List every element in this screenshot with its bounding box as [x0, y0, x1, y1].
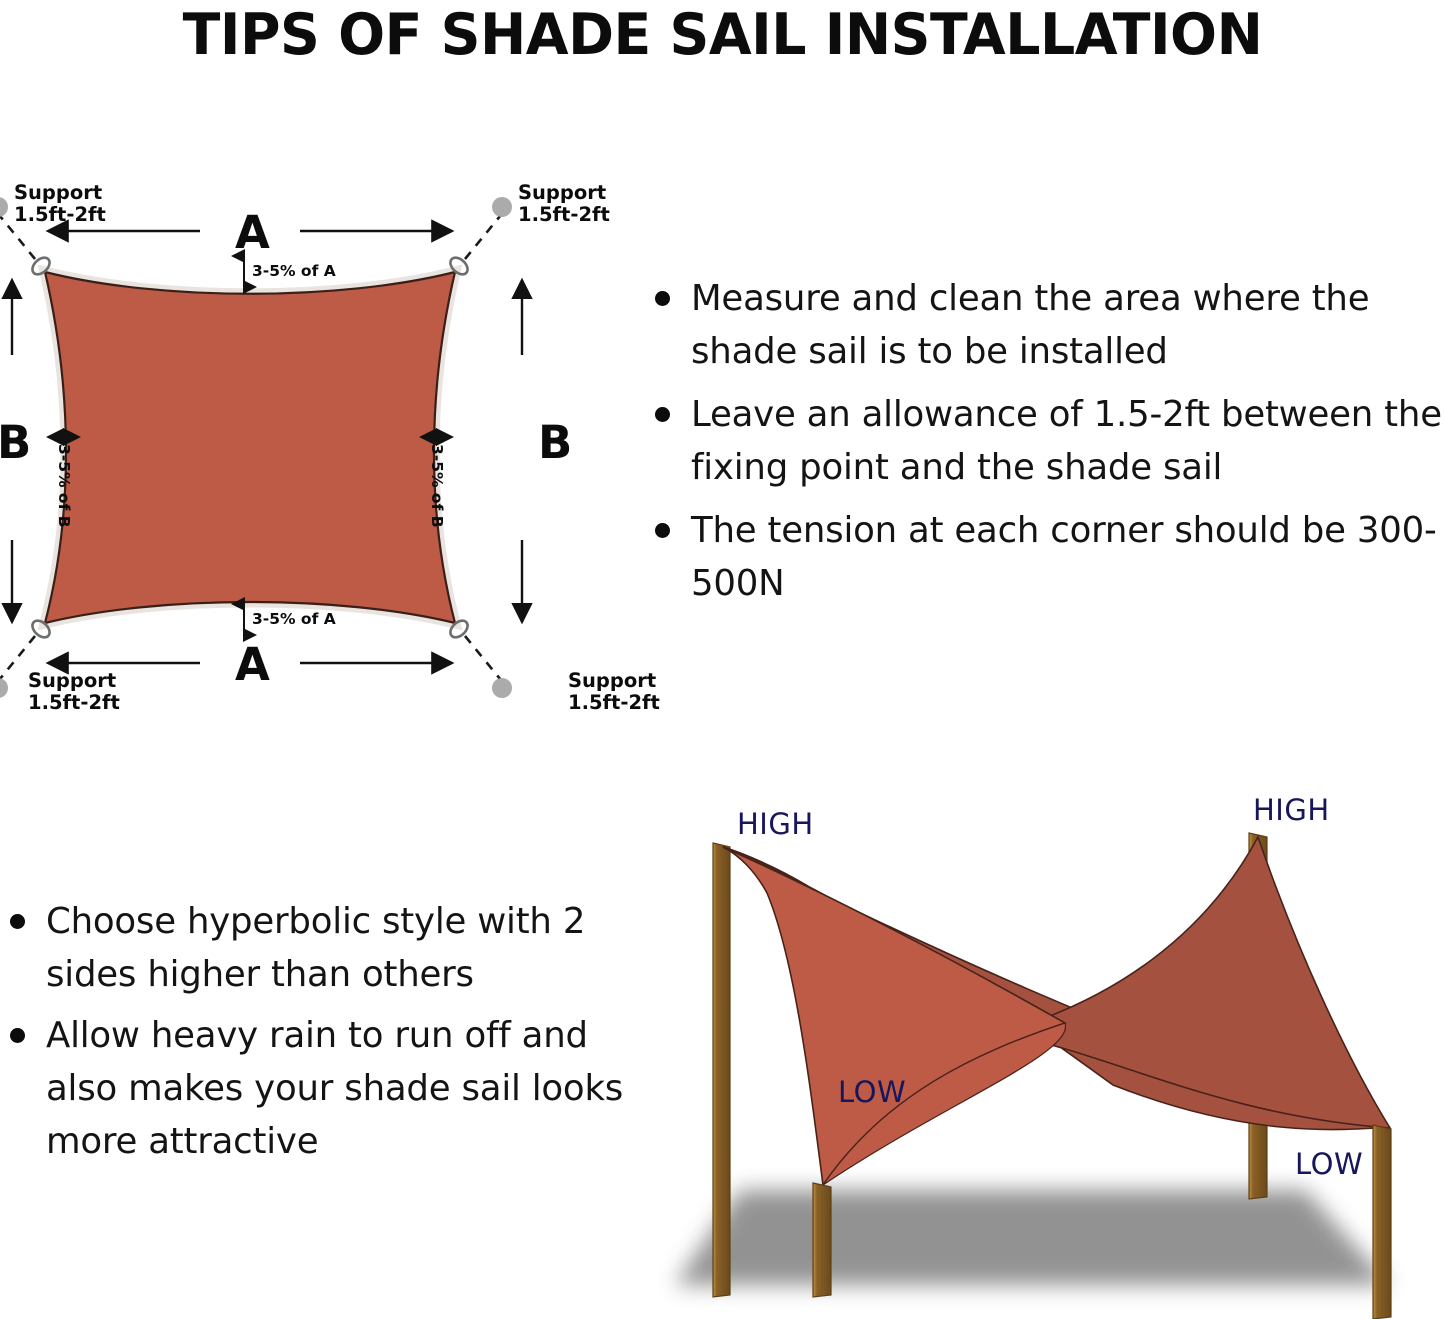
sail-illustration-svg — [645, 785, 1445, 1319]
page-title: TIPS OF SHADE SAIL INSTALLATION — [22, 2, 1424, 68]
label-low-right: LOW — [1295, 1147, 1363, 1181]
dimension-letter-right-B: B — [538, 418, 571, 468]
dimension-letter-top-A: A — [235, 208, 269, 258]
sag-label-bottom: 3-5% of A — [252, 611, 336, 628]
label-high-right: HIGH — [1253, 793, 1330, 827]
support-label-top-right: Support 1.5ft-2ft — [518, 182, 610, 226]
label-low-left: LOW — [838, 1075, 906, 1109]
hyperbolic-style-tips-list: Choose hyperbolic style with 2 sides hig… — [0, 895, 625, 1176]
installation-tips-list: Measure and clean the area where the sha… — [645, 272, 1445, 620]
list-item: Allow heavy rain to run off and also mak… — [0, 1009, 625, 1168]
dimension-letter-left-B: B — [0, 418, 30, 468]
list-item: Leave an allowance of 1.5-2ft between th… — [645, 388, 1445, 494]
infographic-page: TIPS OF SHADE SAIL INSTALLATION — [0, 0, 1445, 1319]
shade-sail-shape — [45, 272, 455, 623]
list-item: Measure and clean the area where the sha… — [645, 272, 1445, 378]
support-label-top-left: Support 1.5ft-2ft — [14, 182, 106, 226]
sail-surface-right-panel — [1000, 837, 1390, 1128]
hyperbolic-sail-illustration: HIGH HIGH LOW LOW — [645, 785, 1445, 1319]
ground-shadow — [675, 1190, 1390, 1285]
dimension-letter-bottom-A: A — [235, 640, 269, 690]
support-label-bottom-right: Support 1.5ft-2ft — [568, 670, 660, 714]
pole-high-left — [713, 843, 730, 1297]
rectangular-sail-diagram: Support 1.5ft-2ft Support 1.5ft-2ft Supp… — [0, 160, 660, 730]
pole-low-left — [813, 1183, 831, 1297]
sag-label-left: 3-5% of B — [55, 444, 72, 528]
list-item: Choose hyperbolic style with 2 sides hig… — [0, 895, 625, 1001]
pole-low-right — [1373, 1125, 1391, 1319]
sag-label-top: 3-5% of A — [252, 263, 336, 280]
sag-label-right: 3-5% of B — [428, 444, 445, 528]
label-high-left: HIGH — [737, 807, 814, 841]
list-item: The tension at each corner should be 300… — [645, 504, 1445, 610]
support-label-bottom-left: Support 1.5ft-2ft — [28, 670, 120, 714]
